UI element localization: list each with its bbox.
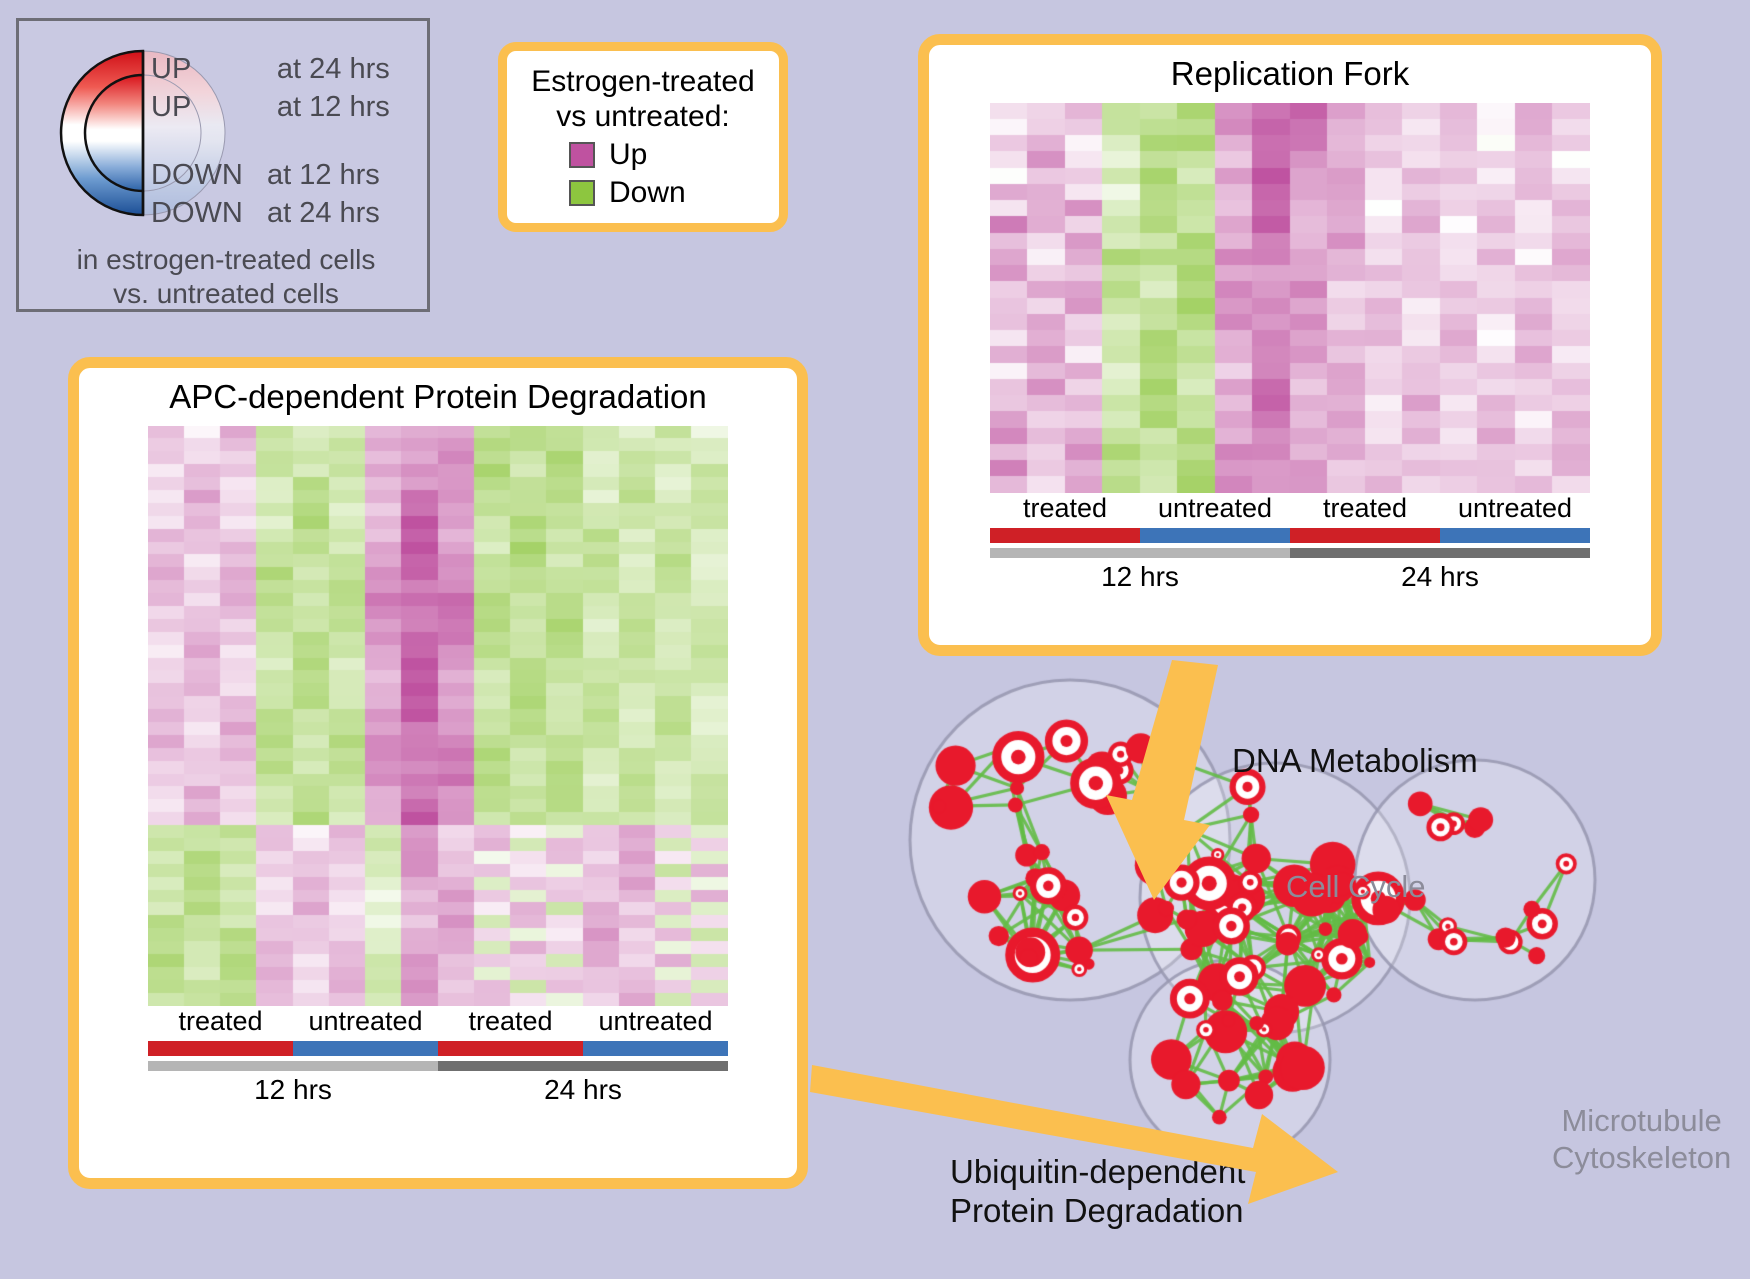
heatmap-apc bbox=[148, 426, 728, 1006]
legend-state-3: DOWN bbox=[151, 197, 243, 229]
axis-group-bars-apc bbox=[148, 1041, 728, 1056]
axis-group-apc-3: untreated bbox=[583, 1006, 728, 1041]
colorwheel-legend: UP at 24 hrs UP at 12 hrs DOWN at 12 hrs… bbox=[16, 18, 430, 312]
group-bar-apc-2 bbox=[438, 1041, 583, 1056]
group-bar-rep-1 bbox=[1140, 528, 1290, 543]
legend-time-0: at 24 hrs bbox=[277, 53, 390, 85]
axis-group-bars-rep bbox=[990, 528, 1590, 543]
legend-state-0: UP bbox=[151, 53, 191, 85]
group-bar-rep-3 bbox=[1440, 528, 1590, 543]
axis-replication-fork: treated untreated treated untreated 12 h… bbox=[990, 493, 1590, 593]
figure-stage: UP at 24 hrs UP at 12 hrs DOWN at 12 hrs… bbox=[0, 0, 1750, 1279]
axis-group-rep-2: treated bbox=[1290, 493, 1440, 528]
axis-group-apc-0: treated bbox=[148, 1006, 293, 1041]
up-swatch-icon bbox=[569, 142, 595, 168]
axis-group-apc-2: treated bbox=[438, 1006, 583, 1041]
time-bar-rep-0 bbox=[990, 548, 1290, 558]
axis-time-names-rep: 12 hrs 24 hrs bbox=[990, 558, 1590, 593]
group-bar-apc-3 bbox=[583, 1041, 728, 1056]
axis-group-names-apc: treated untreated treated untreated bbox=[148, 1006, 728, 1041]
axis-group-rep-0: treated bbox=[990, 493, 1140, 528]
key-item-up: Up bbox=[569, 138, 779, 172]
axis-time-rep-0: 12 hrs bbox=[990, 558, 1290, 593]
axis-time-apc-0: 12 hrs bbox=[148, 1071, 438, 1106]
legend-row-3: DOWN at 24 hrs bbox=[151, 197, 380, 230]
key-item-down: Down bbox=[569, 176, 779, 210]
group-bar-apc-0 bbox=[148, 1041, 293, 1056]
cluster-label-microtubule-cytoskeleton: Microtubule Cytoskeleton bbox=[1552, 1103, 1731, 1176]
updown-key-box: Estrogen-treated vs untreated: Up Down bbox=[498, 42, 788, 232]
axis-time-bars-apc bbox=[148, 1061, 728, 1071]
legend-time-2: at 12 hrs bbox=[267, 159, 380, 191]
legend-row-2: DOWN at 12 hrs bbox=[151, 159, 380, 192]
cluster-label-dna-metabolism: DNA Metabolism bbox=[1232, 742, 1478, 781]
axis-time-names-apc: 12 hrs 24 hrs bbox=[148, 1071, 728, 1106]
panel-replication-fork: Replication Fork treated untreated treat… bbox=[918, 34, 1662, 656]
group-bar-rep-2 bbox=[1290, 528, 1440, 543]
legend-row-1: UP at 12 hrs bbox=[151, 91, 390, 124]
axis-apc: treated untreated treated untreated 12 h… bbox=[148, 1006, 728, 1106]
legend-state-2: DOWN bbox=[151, 159, 243, 191]
legend-caption-line2: vs. untreated cells bbox=[19, 277, 433, 311]
cluster-label-cell-cycle: Cell Cycle bbox=[1286, 869, 1426, 906]
cluster-label-ubiquitin-degradation: Ubiquitin-dependent Protein Degradation bbox=[950, 1153, 1245, 1231]
axis-time-apc-1: 24 hrs bbox=[438, 1071, 728, 1106]
legend-time-1: at 12 hrs bbox=[277, 91, 390, 123]
time-bar-rep-1 bbox=[1290, 548, 1590, 558]
key-label-down: Down bbox=[609, 176, 686, 210]
axis-group-apc-1: untreated bbox=[293, 1006, 438, 1041]
axis-time-rep-1: 24 hrs bbox=[1290, 558, 1590, 593]
time-bar-apc-1 bbox=[438, 1061, 728, 1071]
panel-title-replication-fork: Replication Fork bbox=[929, 55, 1651, 93]
axis-time-bars-rep bbox=[990, 548, 1590, 558]
legend-time-3: at 24 hrs bbox=[267, 197, 380, 229]
axis-group-rep-3: untreated bbox=[1440, 493, 1590, 528]
panel-title-apc: APC-dependent Protein Degradation bbox=[79, 378, 797, 416]
legend-caption-line1: in estrogen-treated cells bbox=[19, 243, 433, 277]
group-bar-rep-0 bbox=[990, 528, 1140, 543]
panel-apc-degradation: APC-dependent Protein Degradation treate… bbox=[68, 357, 808, 1189]
key-title-line1: Estrogen-treated bbox=[507, 65, 779, 100]
axis-group-rep-1: untreated bbox=[1140, 493, 1290, 528]
axis-group-names-rep: treated untreated treated untreated bbox=[990, 493, 1590, 528]
legend-state-1: UP bbox=[151, 91, 191, 123]
legend-row-0: UP at 24 hrs bbox=[151, 53, 390, 86]
key-title: Estrogen-treated vs untreated: bbox=[507, 65, 779, 134]
key-label-up: Up bbox=[609, 138, 647, 172]
legend-caption: in estrogen-treated cells vs. untreated … bbox=[19, 243, 433, 311]
time-bar-apc-0 bbox=[148, 1061, 438, 1071]
group-bar-apc-1 bbox=[293, 1041, 438, 1056]
heatmap-replication-fork bbox=[990, 103, 1590, 493]
key-title-line2: vs untreated: bbox=[507, 100, 779, 135]
down-swatch-icon bbox=[569, 180, 595, 206]
